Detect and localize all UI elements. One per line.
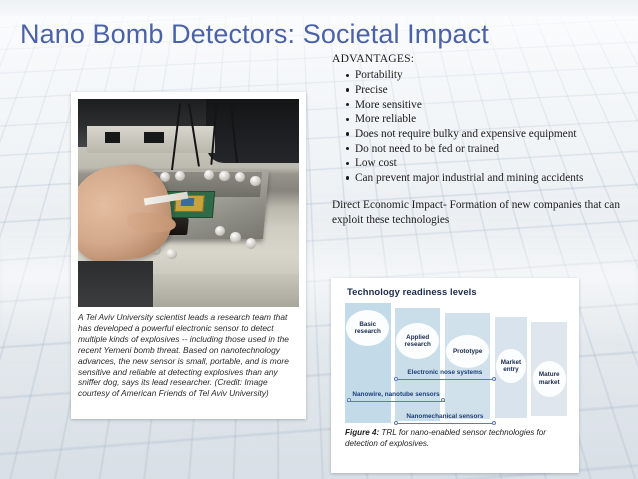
trl-technology-label: Nanowire, nanotube sensors [347,391,445,398]
top-band [0,0,638,16]
list-item: Do not need to be fed or trained [346,142,632,156]
list-item: More sensitive [346,98,632,112]
trl-caption-label: Figure 4: [345,428,379,437]
advantages-list: Portability Precise More sensitive More … [332,68,632,185]
list-item: Does not require bulky and expensive equ… [346,127,632,141]
slide-canvas: Nano Bomb Detectors: Societal Impact ADV… [0,0,638,479]
trl-figure-card: Technology readiness levels Basic resear… [331,278,579,473]
trl-technology-bar: Nanowire, nanotube sensors [347,391,445,400]
photo-caption: A Tel Aviv University scientist leads a … [78,312,299,399]
list-item: Portability [346,68,632,82]
trl-figure-title: Technology readiness levels [347,286,477,297]
list-item: More reliable [346,112,632,126]
trl-technology-label: Electronic nose systems [394,369,496,376]
economic-impact-paragraph: Direct Economic Impact- Formation of new… [332,198,632,227]
trl-stage-oval: Prototype [446,335,489,367]
trl-stage-area: Basic researchApplied researchPrototypeM… [345,303,567,423]
list-item: Can prevent major industrial and mining … [346,171,632,185]
trl-technology-bar: Nanomechanical sensors [394,413,496,422]
photo-card: A Tel Aviv University scientist leads a … [71,92,306,419]
trl-stage-oval: Market entry [496,349,526,384]
advantages-heading: ADVANTAGES: [332,52,632,66]
sensor-photo [78,99,299,307]
trl-technology-bar: Electronic nose systems [394,369,496,378]
trl-technology-label: Nanomechanical sensors [394,413,496,420]
page-title: Nano Bomb Detectors: Societal Impact [20,18,489,50]
trl-figure-caption: Figure 4: TRL for nano-enabled sensor te… [345,428,569,449]
list-item: Precise [346,83,632,97]
list-item: Low cost [346,156,632,170]
advantages-section: ADVANTAGES: Portability Precise More sen… [332,52,632,228]
trl-stage-oval: Mature market [533,361,566,397]
